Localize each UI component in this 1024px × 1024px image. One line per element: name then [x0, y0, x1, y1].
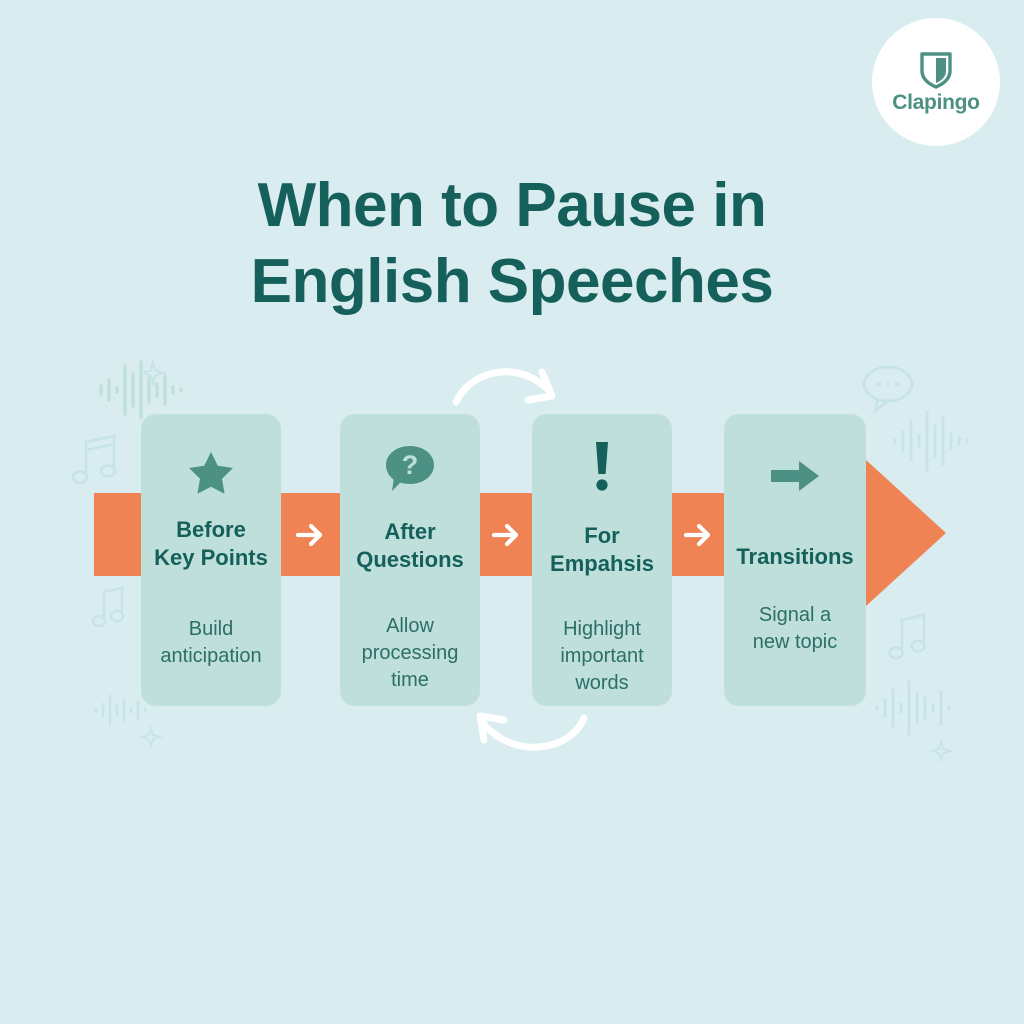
pause-card-desc-line: new topic	[753, 629, 838, 656]
speech-bubble-dots-icon	[858, 364, 918, 414]
pause-card-desc-line: processing	[362, 640, 459, 667]
svg-text:?: ?	[402, 450, 419, 480]
sparkle-icon	[140, 360, 166, 386]
pause-card-title-line: Before	[154, 516, 268, 544]
page-title: When to Pause in English Speeches	[0, 168, 1024, 319]
pause-card-desc-line: important	[560, 643, 643, 670]
waveform-icon	[95, 358, 185, 422]
pause-card-title-line: After	[356, 518, 464, 546]
page-title-line-1: When to Pause in	[0, 168, 1024, 244]
pause-card-title: For Empahsis	[550, 522, 654, 578]
pause-card-desc-line: anticipation	[160, 643, 261, 670]
arrow-right-icon	[769, 458, 821, 494]
pause-card-title-line: For	[550, 522, 654, 550]
pause-card-title-line: Transitions	[736, 543, 853, 571]
pause-card-desc-line: Signal a	[753, 602, 838, 629]
curved-arrow-right-icon	[450, 358, 578, 420]
arrow-head-icon	[866, 460, 946, 606]
pause-card-desc: Signal a new topic	[753, 602, 838, 655]
pause-card-desc: Highlight important words	[560, 616, 643, 696]
arrow-right-icon	[290, 515, 330, 555]
arrow-right-icon	[678, 515, 718, 555]
brand-logo: Clapingo	[872, 18, 1000, 146]
infographic-canvas: Clapingo When to Pause in English Speech…	[0, 0, 1024, 1024]
brand-name: Clapingo	[892, 92, 979, 113]
pause-card-title-line: Empahsis	[550, 550, 654, 578]
arrow-right-icon	[486, 515, 526, 555]
pause-card-desc-line: time	[362, 667, 459, 694]
pause-card-desc-line: Allow	[362, 613, 459, 640]
pause-card-before-key-points[interactable]: Before Key Points Build anticipation	[141, 414, 281, 706]
star-icon	[188, 450, 234, 494]
shield-icon	[919, 51, 953, 89]
pause-card-transitions[interactable]: Transitions Signal a new topic	[724, 414, 866, 706]
pause-card-desc-line: Highlight	[560, 616, 643, 643]
page-title-line-2: English Speeches	[0, 244, 1024, 320]
pause-card-for-emphasis[interactable]: For Empahsis Highlight important words	[532, 414, 672, 706]
sparkle-icon	[930, 740, 952, 762]
pause-card-title-line: Questions	[356, 546, 464, 574]
pause-card-title-line: Key Points	[154, 544, 268, 572]
pause-card-after-questions[interactable]: ? After Questions Allow processing time	[340, 414, 480, 706]
pause-card-desc: Allow processing time	[362, 613, 459, 693]
music-note-icon	[888, 612, 932, 662]
sparkle-icon	[140, 726, 162, 748]
pause-card-title: After Questions	[356, 518, 464, 574]
curved-arrow-left-icon	[462, 708, 590, 764]
pause-card-desc: Build anticipation	[160, 616, 261, 669]
music-note-icon	[92, 586, 128, 630]
music-note-icon	[70, 432, 122, 486]
pause-card-title: Before Key Points	[154, 516, 268, 572]
question-bubble-icon: ?	[384, 444, 436, 494]
waveform-icon	[872, 678, 960, 738]
pause-card-title: Transitions	[736, 543, 853, 571]
pause-card-desc-line: Build	[160, 616, 261, 643]
exclamation-icon	[591, 440, 613, 492]
pause-card-desc-line: words	[560, 670, 643, 697]
